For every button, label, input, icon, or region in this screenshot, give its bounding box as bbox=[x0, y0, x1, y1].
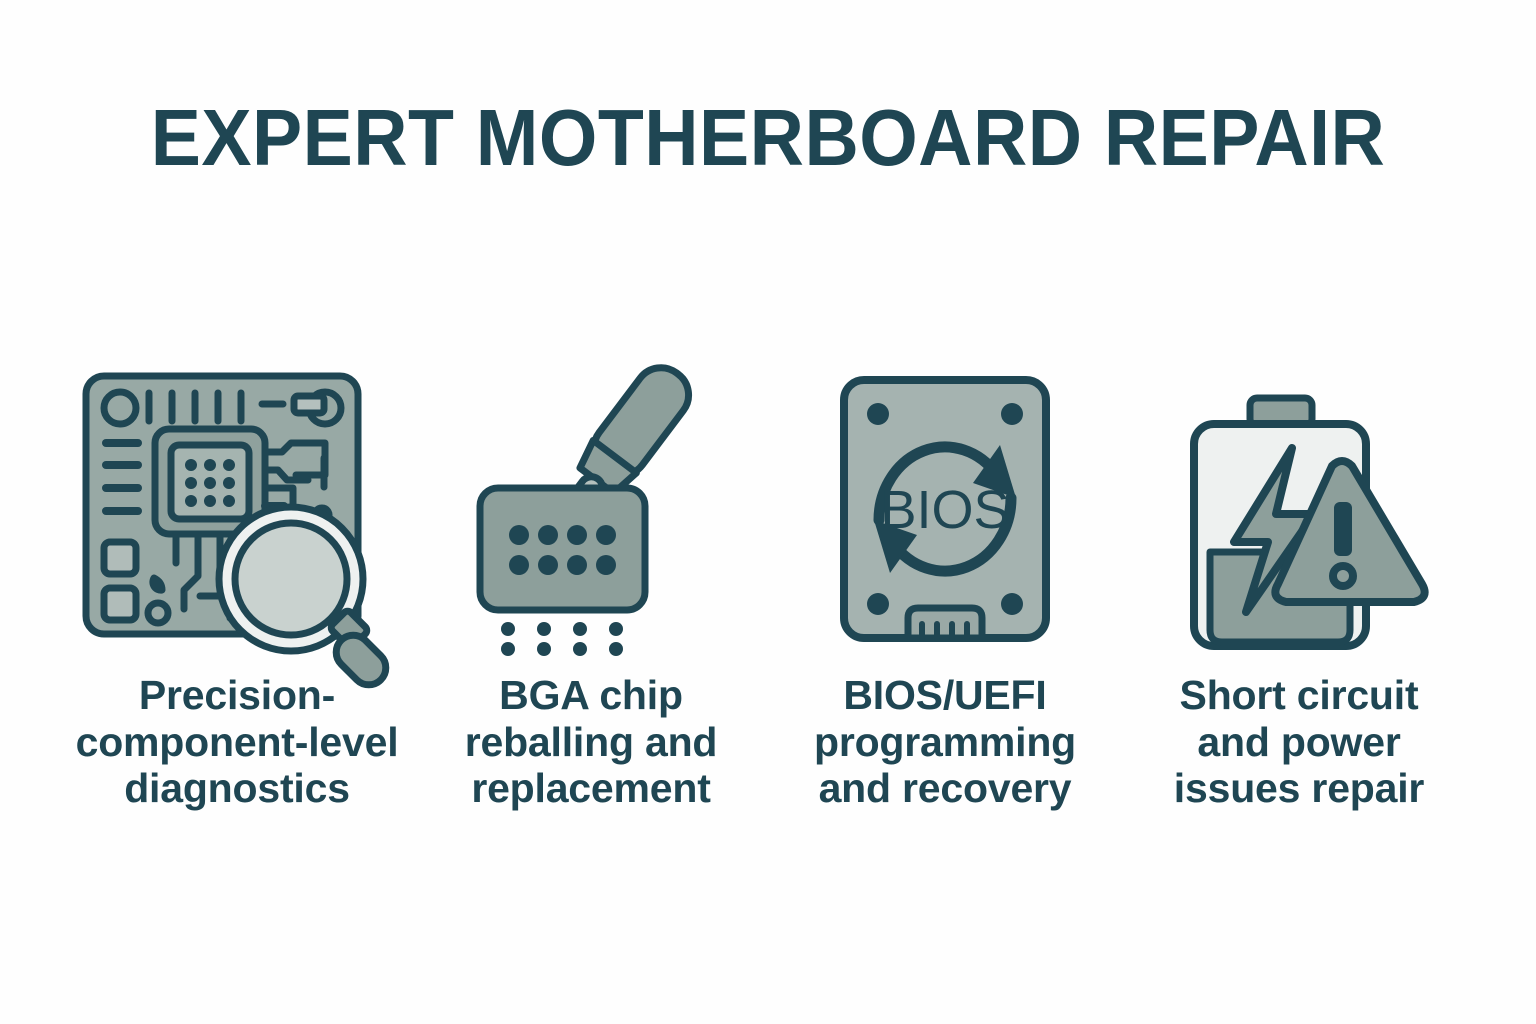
bios-label: BIOS bbox=[880, 480, 1009, 540]
card-caption: BGA chip reballing and replacement bbox=[461, 672, 722, 812]
page-title: EXPERT MOTHERBOARD REPAIR bbox=[46, 98, 1490, 178]
poster-canvas: EXPERT MOTHERBOARD REPAIR bbox=[0, 0, 1536, 1024]
bga-chip-soldering-tool-icon bbox=[414, 340, 768, 660]
circuit-board-magnifier-icon bbox=[60, 340, 414, 660]
card-caption: Short circuit and power issues repair bbox=[1170, 672, 1428, 812]
battery-bolt-warning-icon bbox=[1122, 340, 1476, 660]
card-caption: Precision- component-level diagnostics bbox=[72, 672, 403, 812]
service-card-bios-uefi[interactable]: BIOS BIOS/UEFI programming and recovery bbox=[768, 340, 1122, 812]
card-caption: BIOS/UEFI programming and recovery bbox=[810, 672, 1080, 812]
bios-drive-refresh-icon: BIOS bbox=[768, 340, 1122, 660]
service-card-diagnostics[interactable]: Precision- component-level diagnostics bbox=[60, 340, 414, 812]
service-card-short-circuit[interactable]: Short circuit and power issues repair bbox=[1122, 340, 1476, 812]
service-cards-row: Precision- component-level diagnostics bbox=[60, 340, 1476, 812]
service-card-bga-reballing[interactable]: BGA chip reballing and replacement bbox=[414, 340, 768, 812]
